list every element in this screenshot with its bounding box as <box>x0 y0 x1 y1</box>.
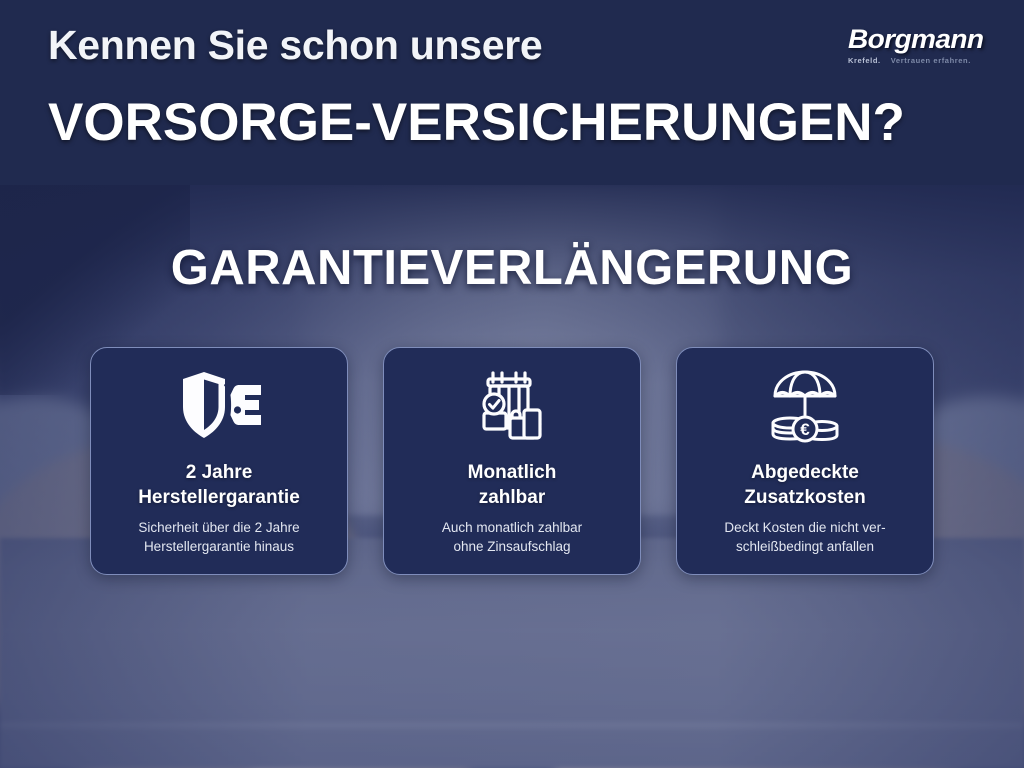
calendar-payment-icon <box>466 366 558 448</box>
card-subtitle: Sicherheit über die 2 Jahre Herstellerga… <box>128 519 309 556</box>
page-title: GARANTIEVERLÄNGERUNG <box>0 240 1024 296</box>
card-title-line2: Zusatzkosten <box>744 487 865 508</box>
card-subtitle-line1: Sicherheit über die 2 Jahre <box>138 520 299 535</box>
svg-text:€: € <box>800 420 810 439</box>
logo-tagline-city: Krefeld. <box>848 56 881 65</box>
card-subtitle-line2: schleißbedingt anfallen <box>736 539 874 554</box>
header-title: VORSORGE-VERSICHERUNGEN? <box>48 92 905 153</box>
card-subtitle-line1: Auch monatlich zahlbar <box>442 520 582 535</box>
card-subtitle-line2: Herstellergarantie hinaus <box>144 539 294 554</box>
card-subtitle: Auch monatlich zahlbar ohne Zinsaufschla… <box>432 519 592 556</box>
logo-wordmark: Borgmann <box>848 26 1002 53</box>
card-title-line1: 2 Jahre <box>186 462 253 483</box>
advertisement-banner: Kennen Sie schon unsere VORSORGE-VERSICH… <box>0 0 1024 768</box>
card-subtitle-line1: Deckt Kosten die nicht ver- <box>724 520 885 535</box>
card-subtitle: Deckt Kosten die nicht ver- schleißbedin… <box>714 519 895 556</box>
borgmann-logo[interactable]: Borgmann Krefeld. Vertrauen erfahren. <box>848 26 996 72</box>
header-subtitle: Kennen Sie schon unsere <box>48 22 542 69</box>
logo-tagline-slogan: Vertrauen erfahren. <box>891 56 971 65</box>
card-title: 2 Jahre Herstellergarantie <box>138 460 300 510</box>
feature-card-list: 2 Jahre Herstellergarantie Sicherheit üb… <box>0 347 1024 575</box>
card-title-line1: Monatlich <box>468 462 557 483</box>
feature-card-monatlich-zahlbar[interactable]: Monatlich zahlbar Auch monatlich zahlbar… <box>383 347 641 575</box>
logo-tagline: Krefeld. Vertrauen erfahren. <box>848 56 996 65</box>
card-title-line2: zahlbar <box>479 487 546 508</box>
card-title-line2: Herstellergarantie <box>138 487 300 508</box>
feature-card-herstellergarantie[interactable]: 2 Jahre Herstellergarantie Sicherheit üb… <box>90 347 348 575</box>
umbrella-coins-icon: € <box>759 366 851 448</box>
card-title: Abgedeckte Zusatzkosten <box>744 460 865 510</box>
card-title-line1: Abgedeckte <box>751 462 859 483</box>
shield-car-icon <box>173 366 265 448</box>
feature-card-zusatzkosten[interactable]: € Abgedeckte Zusatzkosten Deckt Kosten d… <box>676 347 934 575</box>
header-band: Kennen Sie schon unsere VORSORGE-VERSICH… <box>0 0 1024 185</box>
card-subtitle-line2: ohne Zinsaufschlag <box>453 539 570 554</box>
card-title: Monatlich zahlbar <box>468 460 557 510</box>
